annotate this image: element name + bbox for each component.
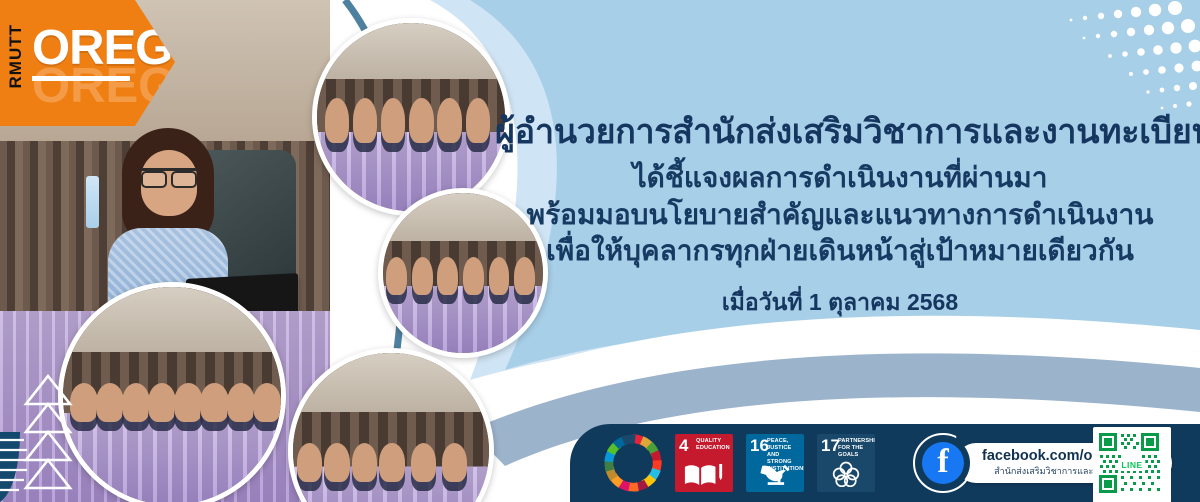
qr-pattern: LINE bbox=[1096, 430, 1168, 500]
sdg-goal-4-label: QUALITY EDUCATION bbox=[696, 438, 731, 452]
event-date: เมื่อวันที่ 1 ตุลาคม 2568 bbox=[495, 285, 1185, 321]
halftone-dots-decoration bbox=[1025, 0, 1200, 120]
announcement-text-block: ผู้อำนวยการสำนักส่งเสริมวิชาการและงานทะเ… bbox=[495, 112, 1185, 321]
sdg-goal-16-badge: 16 PEACE, JUSTICE AND STRONG INSTITUTION… bbox=[746, 434, 804, 492]
photo-meeting-room-circle-left bbox=[58, 282, 286, 502]
sdg-goal-17-label: PARTNERSHIPS FOR THE GOALS bbox=[838, 438, 873, 459]
rmutt-wordmark: RMUTT bbox=[6, 24, 26, 88]
facebook-icon bbox=[922, 442, 964, 484]
book-pencil-icon bbox=[675, 459, 733, 489]
sdg-badge-row: 4 QUALITY EDUCATION 16 PEACE, JUSTICE AN… bbox=[604, 432, 875, 494]
message-line-3: เพื่อให้บุคลากรทุกฝ่ายเดินหน้าสู่เป้าหมา… bbox=[495, 233, 1185, 269]
message-line-2: พร้อมมอบนโยบายสำคัญและแนวทางการดำเนินงาน bbox=[495, 197, 1185, 233]
facebook-ring bbox=[916, 436, 970, 490]
dot-pattern-icon bbox=[1025, 0, 1200, 120]
sdg-goal-17-badge: 17 PARTNERSHIPS FOR THE GOALS bbox=[817, 434, 875, 492]
line-qr-code[interactable]: LINE bbox=[1093, 427, 1171, 502]
photo-audience-circle-top bbox=[312, 18, 510, 216]
interlocking-rings-icon bbox=[817, 459, 875, 489]
photo-panel-circle-bottom bbox=[288, 348, 494, 502]
sdg-color-wheel-icon bbox=[604, 434, 662, 492]
sdg-goal-4-number: 4 bbox=[679, 437, 688, 454]
arc-stripes-icon bbox=[0, 432, 46, 502]
message-line-1: ได้ชี้แจงผลการดำเนินงานที่ผ่านมา bbox=[495, 160, 1185, 196]
line-badge-label: LINE bbox=[1118, 459, 1145, 471]
promotional-banner: RMUTT OREG OREG bbox=[0, 0, 1200, 502]
headline-title: ผู้อำนวยการสำนักส่งเสริมวิชาการและงานทะเ… bbox=[495, 112, 1185, 152]
sdg-goal-4-badge: 4 QUALITY EDUCATION bbox=[675, 434, 733, 492]
dove-gavel-icon bbox=[746, 459, 804, 489]
striped-arc-decoration bbox=[0, 432, 46, 502]
